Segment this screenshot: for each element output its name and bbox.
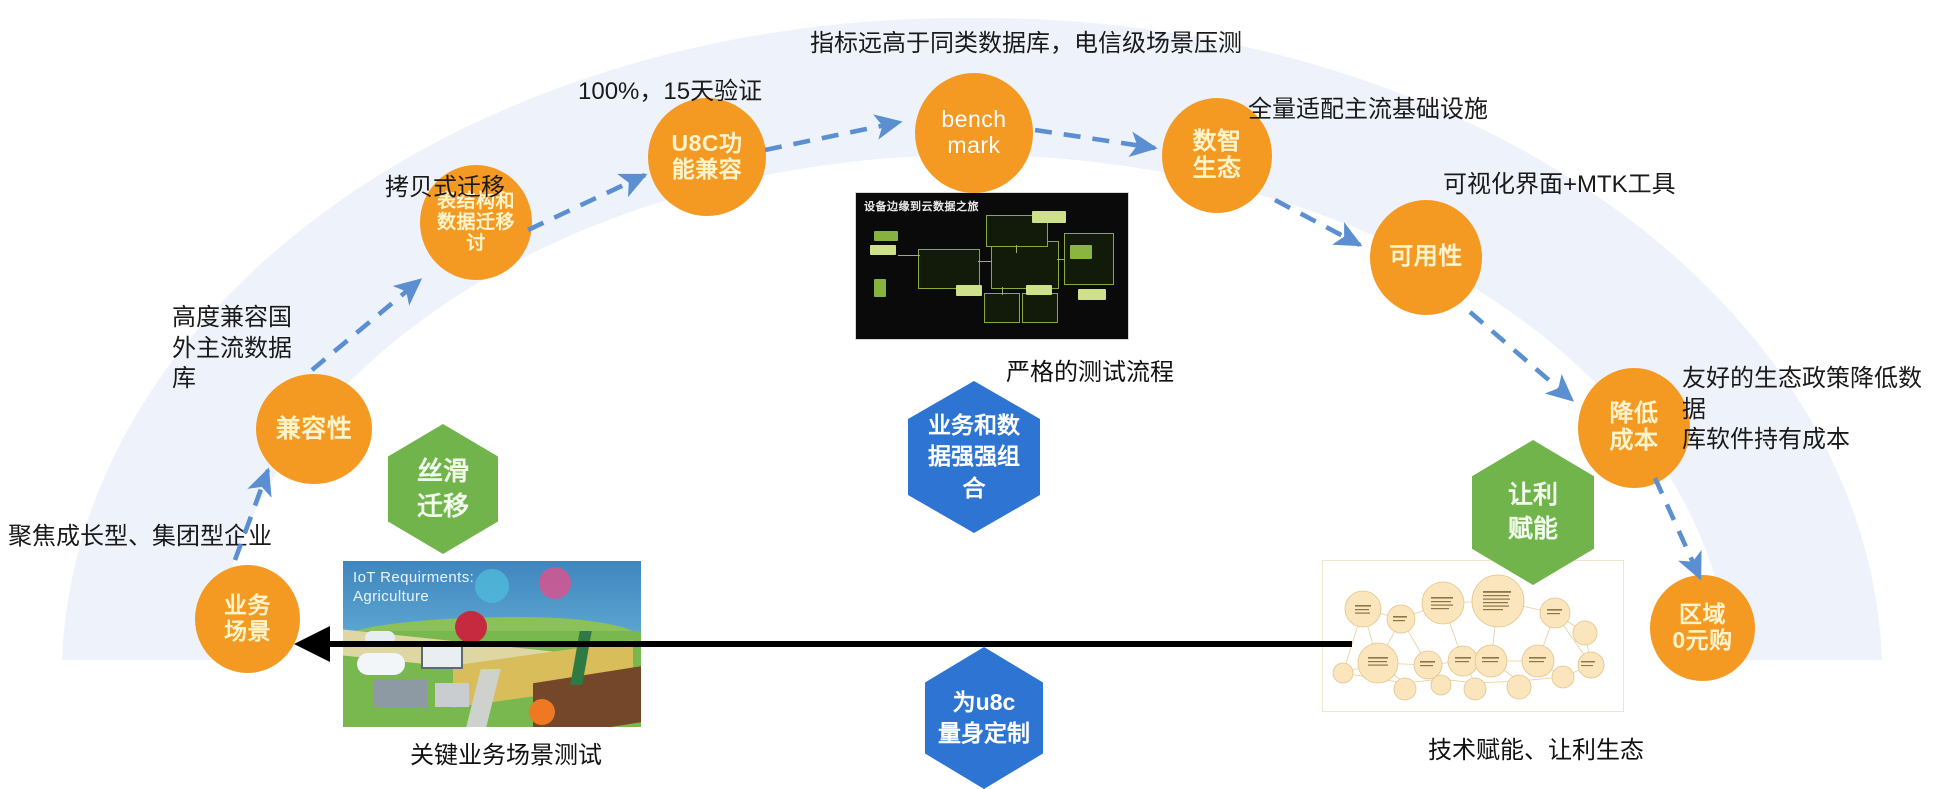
node-u8c-line-1: U8C功 bbox=[671, 131, 742, 157]
node-lower-cost[interactable]: 降低 成本 bbox=[1578, 368, 1690, 488]
iot-screen bbox=[421, 643, 463, 669]
ecosystem-network-image bbox=[1322, 560, 1624, 712]
architecture-image-caption: 严格的测试流程 bbox=[1006, 352, 1174, 387]
node-regional-line-1: 区域 bbox=[1672, 602, 1732, 628]
iot-barn-2 bbox=[435, 683, 469, 707]
node-compatibility-line-1: 兼容性 bbox=[276, 415, 353, 443]
node-business-scenario[interactable]: 业务 场景 bbox=[195, 565, 300, 673]
annotation-copy-migration: 拷贝式迁移 bbox=[385, 173, 505, 204]
arch-box-right bbox=[1064, 233, 1114, 285]
node-business-scenario-line-2: 场景 bbox=[224, 619, 271, 645]
node-u8c-feature-compat[interactable]: U8C功 能兼容 bbox=[648, 98, 766, 216]
node-schema-line-2: 数据迁移 bbox=[437, 212, 515, 233]
iot-cloud-platform bbox=[357, 653, 405, 675]
diagram-canvas: 聚焦成长型、集团型企业 高度兼容国 外主流数据 库 拷贝式迁移 100%，15天… bbox=[0, 0, 1945, 782]
annotation-focus-enterprises: 聚焦成长型、集团型企业 bbox=[8, 522, 272, 553]
arch-icon-device bbox=[874, 279, 886, 297]
edge-to-cloud-architecture-image: 设备边缘到云数据之旅 bbox=[855, 192, 1129, 340]
node-schema-line-3: 讨 bbox=[437, 233, 515, 254]
iot-bubble-remote-sensing bbox=[475, 569, 509, 603]
node-benchmark[interactable]: bench mark bbox=[915, 73, 1033, 193]
hex-combo-line-1: 业务和数 bbox=[928, 410, 1020, 441]
annotation-benchmark-metrics: 指标远高于同类数据库，电信级场景压测 bbox=[810, 29, 1242, 60]
iot-cloud-small bbox=[365, 631, 395, 645]
iot-bubble-global bbox=[539, 567, 571, 599]
node-regional-line-2: 0元购 bbox=[1672, 628, 1732, 654]
hex-tailored-line-2: 量身定制 bbox=[938, 718, 1030, 749]
node-benchmark-line-1: bench bbox=[941, 107, 1006, 133]
node-business-scenario-line-1: 业务 bbox=[224, 593, 271, 619]
arch-link-3 bbox=[1016, 245, 1017, 253]
node-u8c-line-2: 能兼容 bbox=[671, 157, 742, 183]
hex-smooth-line-1: 丝滑 bbox=[417, 454, 469, 489]
iot-overlay-title: IoT Requirments: Agriculture bbox=[353, 569, 474, 607]
hex-combo-line-2: 据强强组 bbox=[928, 441, 1020, 472]
arch-chip-1 bbox=[1032, 211, 1066, 223]
hex-smooth-line-2: 迁移 bbox=[417, 489, 469, 524]
arch-box-store bbox=[984, 293, 1020, 323]
node-lower-cost-line-1: 降低 bbox=[1610, 401, 1659, 428]
arch-link-2 bbox=[978, 261, 992, 262]
node-regional-zero-yuan[interactable]: 区域 0元购 bbox=[1650, 575, 1755, 681]
iot-agriculture-image: IoT Requirments: Agriculture bbox=[343, 561, 641, 727]
arch-chip-5 bbox=[870, 245, 896, 255]
hex-profit-line-1: 让利 bbox=[1508, 479, 1558, 513]
node-smart-eco-line-1: 数智 bbox=[1193, 129, 1242, 156]
node-availability-line-1: 可用性 bbox=[1389, 244, 1463, 271]
arch-chip-4 bbox=[1078, 289, 1106, 300]
annotation-100-percent-15-days: 100%，15天验证 bbox=[578, 77, 762, 108]
network-image-caption: 技术赋能、让利生态 bbox=[1428, 730, 1644, 765]
node-lower-cost-line-2: 成本 bbox=[1610, 428, 1659, 455]
arch-box-ml bbox=[1022, 293, 1058, 323]
hex-tailored-line-1: 为u8c bbox=[938, 687, 1030, 718]
arch-link-4 bbox=[1057, 259, 1065, 260]
hex-combo-line-3: 合 bbox=[928, 473, 1020, 504]
iot-barn-1 bbox=[373, 679, 427, 707]
arch-box-edge bbox=[918, 249, 980, 289]
arch-chip-2 bbox=[956, 285, 982, 296]
hex-profit-line-2: 赋能 bbox=[1508, 513, 1558, 547]
node-availability[interactable]: 可用性 bbox=[1370, 200, 1482, 315]
node-smart-eco-line-2: 生态 bbox=[1193, 156, 1242, 183]
arch-link-1 bbox=[898, 255, 920, 256]
arch-link-5 bbox=[1002, 287, 1003, 295]
arch-chip-3 bbox=[1026, 285, 1052, 295]
arch-box-gw bbox=[991, 241, 1059, 289]
iot-image-caption: 关键业务场景测试 bbox=[410, 735, 602, 770]
annotation-ecosystem-policy-cost: 友好的生态政策降低数据 库软件持有成本 bbox=[1682, 364, 1945, 456]
arch-icon-analytics bbox=[1070, 245, 1092, 259]
annotation-infrastructure-adaptation: 全量适配主流基础设施 bbox=[1248, 95, 1488, 126]
iot-bubble-smart-farming bbox=[455, 611, 487, 643]
annotation-visual-ui-mtk: 可视化界面+MTK工具 bbox=[1443, 170, 1676, 201]
node-benchmark-line-2: mark bbox=[941, 133, 1006, 159]
network-graph-svg bbox=[1323, 561, 1623, 711]
architecture-overlay-title: 设备边缘到云数据之旅 bbox=[864, 198, 979, 214]
annotation-compatibility: 高度兼容国 外主流数据 库 bbox=[172, 303, 292, 395]
arch-icon-sensor bbox=[874, 231, 898, 241]
iot-bubble-sensor bbox=[529, 699, 555, 725]
